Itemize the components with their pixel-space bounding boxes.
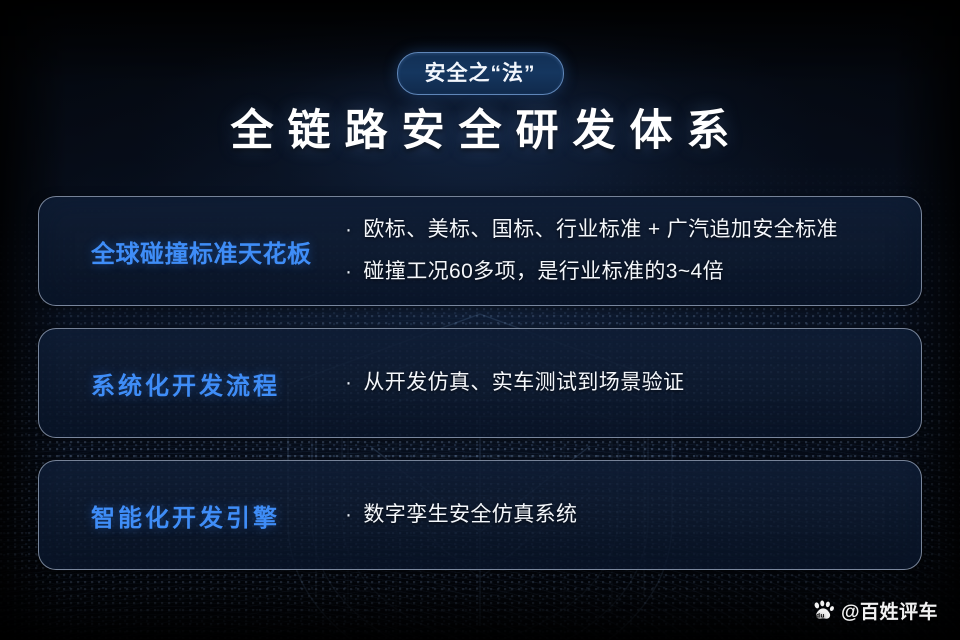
bullet-dot-icon: · bbox=[345, 219, 352, 240]
card-bullets: · 欧标、美标、国标、行业标准 + 广汽追加安全标准 · 碰撞工况60多项，是行… bbox=[345, 217, 921, 286]
watermark: du @百姓评车 bbox=[812, 597, 938, 624]
bullet-item: · 数字孪生安全仿真系统 bbox=[345, 502, 901, 528]
bullet-dot-icon: · bbox=[345, 504, 352, 525]
card-bullets: · 从开发仿真、实车测试到场景验证 bbox=[345, 370, 921, 396]
bullet-item: · 碰撞工况60多项，是行业标准的3~4倍 bbox=[345, 259, 901, 285]
bullet-item: · 从开发仿真、实车测试到场景验证 bbox=[345, 370, 901, 396]
bullet-text: 数字孪生安全仿真系统 bbox=[363, 502, 577, 528]
card-heading: 智能化开发引擎 bbox=[39, 498, 345, 533]
baidu-paw-icon: du bbox=[812, 600, 835, 621]
card-bullets: · 数字孪生安全仿真系统 bbox=[345, 502, 921, 528]
slide-root: 安全之“法” 全链路安全研发体系 全球碰撞标准天花板 · 欧标、美标、国标、行业… bbox=[0, 0, 960, 640]
badge-container: 安全之“法” bbox=[0, 52, 960, 95]
card-heading: 系统化开发流程 bbox=[39, 366, 345, 401]
bullet-item: · 欧标、美标、国标、行业标准 + 广汽追加安全标准 bbox=[345, 217, 901, 243]
bullet-text: 欧标、美标、国标、行业标准 + 广汽追加安全标准 bbox=[363, 217, 838, 243]
card-intelligent-development-engine[interactable]: 智能化开发引擎 · 数字孪生安全仿真系统 bbox=[38, 460, 922, 570]
bullet-dot-icon: · bbox=[345, 261, 352, 282]
bullet-text: 从开发仿真、实车测试到场景验证 bbox=[363, 370, 684, 396]
baidu-du-label: du bbox=[816, 613, 825, 620]
page-title: 全链路安全研发体系 bbox=[0, 106, 960, 157]
card-global-crash-standard[interactable]: 全球碰撞标准天花板 · 欧标、美标、国标、行业标准 + 广汽追加安全标准 · 碰… bbox=[38, 196, 922, 306]
section-badge: 安全之“法” bbox=[397, 52, 564, 95]
bullet-text: 碰撞工况60多项，是行业标准的3~4倍 bbox=[363, 259, 724, 285]
watermark-text: @百姓评车 bbox=[841, 597, 938, 624]
bullet-dot-icon: · bbox=[345, 372, 352, 393]
card-systematic-development-process[interactable]: 系统化开发流程 · 从开发仿真、实车测试到场景验证 bbox=[38, 328, 922, 438]
card-list: 全球碰撞标准天花板 · 欧标、美标、国标、行业标准 + 广汽追加安全标准 · 碰… bbox=[38, 196, 922, 570]
card-heading: 全球碰撞标准天花板 bbox=[39, 234, 345, 269]
